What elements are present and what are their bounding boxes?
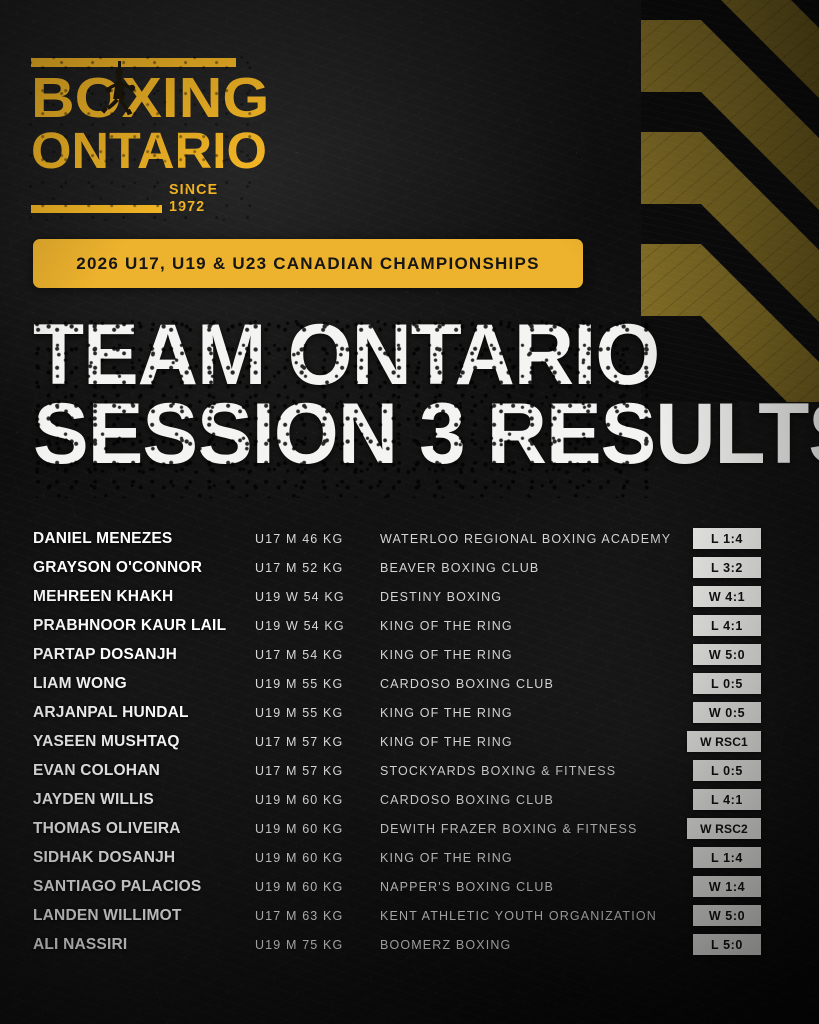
logo-word-boxing: BOXING <box>31 72 273 126</box>
athlete-name: EVAN COLOHAN <box>33 762 255 780</box>
result-badge-label: W 4:1 <box>709 590 745 604</box>
table-row: DANIEL MENEZESU17 M 46 KGWATERLOO REGION… <box>33 524 790 553</box>
athlete-name: DANIEL MENEZES <box>33 530 255 548</box>
result-badge: W 5:0 <box>693 644 761 665</box>
result-badge: L 3:2 <box>693 557 761 578</box>
table-row: MEHREEN KHAKHU19 W 54 KGDESTINY BOXINGW … <box>33 582 790 611</box>
result-badge: L 1:4 <box>693 847 761 868</box>
athlete-category: U19 M 55 KG <box>255 706 380 720</box>
athlete-name: ALI NASSIRI <box>33 936 255 954</box>
result-badge: W RSC1 <box>687 731 761 752</box>
results-poster: BOXING ONTARIO SINCE 1972 <box>0 0 819 1024</box>
athlete-name: SANTIAGO PALACIOS <box>33 878 255 896</box>
athlete-name: THOMAS OLIVEIRA <box>33 820 255 838</box>
table-row: PRABHNOOR KAUR LAILU19 W 54 KGKING OF TH… <box>33 611 790 640</box>
athlete-category: U17 M 57 KG <box>255 735 380 749</box>
table-row: ALI NASSIRIU19 M 75 KGBOOMERZ BOXINGL 5:… <box>33 930 790 959</box>
result-badge-label: W 0:5 <box>709 706 745 720</box>
result-badge-label: L 5:0 <box>711 938 743 952</box>
athlete-name: MEHREEN KHAKH <box>33 588 255 606</box>
result-badge: L 0:5 <box>693 673 761 694</box>
logo-word-ontario: ONTARIO <box>31 127 264 175</box>
championship-banner-label: 2026 U17, U19 & U23 CANADIAN CHAMPIONSHI… <box>76 254 539 274</box>
athlete-name: GRAYSON O'CONNOR <box>33 559 255 577</box>
table-row: ARJANPAL HUNDALU19 M 55 KGKING OF THE RI… <box>33 698 790 727</box>
athlete-category: U17 M 57 KG <box>255 764 380 778</box>
page-title: TEAM ONTARIO SESSION 3 RESULTS <box>33 318 653 463</box>
athlete-category: U19 M 60 KG <box>255 822 380 836</box>
result-badge-label: L 1:4 <box>711 851 743 865</box>
logo-since-text: SINCE 1972 <box>169 181 255 215</box>
result-badge: L 5:0 <box>693 934 761 955</box>
athlete-name: SIDHAK DOSANJH <box>33 849 255 867</box>
athlete-category: U19 M 55 KG <box>255 677 380 691</box>
result-badge-label: W 5:0 <box>709 648 745 662</box>
result-badge-label: W 5:0 <box>709 909 745 923</box>
result-badge: W 4:1 <box>693 586 761 607</box>
table-row: GRAYSON O'CONNORU17 M 52 KGBEAVER BOXING… <box>33 553 790 582</box>
athlete-name: LIAM WONG <box>33 675 255 693</box>
table-row: SANTIAGO PALACIOSU19 M 60 KGNAPPER'S BOX… <box>33 872 790 901</box>
athlete-name: YASEEN MUSHTAQ <box>33 733 255 751</box>
athlete-name: JAYDEN WILLIS <box>33 791 255 809</box>
result-badge: W 5:0 <box>693 905 761 926</box>
table-row: PARTAP DOSANJHU17 M 54 KGKING OF THE RIN… <box>33 640 790 669</box>
result-badge: W 0:5 <box>693 702 761 723</box>
result-badge-label: L 0:5 <box>711 764 743 778</box>
result-badge-label: L 0:5 <box>711 677 743 691</box>
table-row: YASEEN MUSHTAQU17 M 57 KGKING OF THE RIN… <box>33 727 790 756</box>
result-badge-label: L 3:2 <box>711 561 743 575</box>
result-badge-label: L 4:1 <box>711 619 743 633</box>
table-row: LIAM WONGU19 M 55 KGCARDOSO BOXING CLUBL… <box>33 669 790 698</box>
athlete-name: ARJANPAL HUNDAL <box>33 704 255 722</box>
result-badge-label: W RSC2 <box>700 822 748 836</box>
boxing-ontario-logo: BOXING ONTARIO SINCE 1972 <box>31 58 259 215</box>
logo-bottom-rule <box>31 205 162 213</box>
table-row: JAYDEN WILLISU19 M 60 KGCARDOSO BOXING C… <box>33 785 790 814</box>
page-title-line1: TEAM ONTARIO <box>33 318 715 393</box>
table-row: EVAN COLOHANU17 M 57 KGSTOCKYARDS BOXING… <box>33 756 790 785</box>
result-badge-label: L 1:4 <box>711 532 743 546</box>
championship-banner: 2026 U17, U19 & U23 CANADIAN CHAMPIONSHI… <box>33 239 583 288</box>
athlete-category: U17 M 63 KG <box>255 909 380 923</box>
athlete-name: LANDEN WILLIMOT <box>33 907 255 925</box>
athlete-name: PARTAP DOSANJH <box>33 646 255 664</box>
athlete-category: U19 W 54 KG <box>255 619 380 633</box>
result-badge: W RSC2 <box>687 818 761 839</box>
table-row: SIDHAK DOSANJHU19 M 60 KGKING OF THE RIN… <box>33 843 790 872</box>
athlete-category: U19 M 75 KG <box>255 938 380 952</box>
result-badge-label: W RSC1 <box>700 735 748 749</box>
result-badge: W 1:4 <box>693 876 761 897</box>
athlete-name: PRABHNOOR KAUR LAIL <box>33 617 255 635</box>
result-badge-label: W 1:4 <box>709 880 745 894</box>
result-badge: L 4:1 <box>693 615 761 636</box>
result-badge: L 1:4 <box>693 528 761 549</box>
result-badge: L 4:1 <box>693 789 761 810</box>
athlete-category: U19 W 54 KG <box>255 590 380 604</box>
results-table: DANIEL MENEZESU17 M 46 KGWATERLOO REGION… <box>33 524 790 959</box>
table-row: THOMAS OLIVEIRAU19 M 60 KGDEWITH FRAZER … <box>33 814 790 843</box>
logo-footer-row: SINCE 1972 <box>31 181 259 215</box>
athlete-category: U19 M 60 KG <box>255 793 380 807</box>
athlete-category: U17 M 52 KG <box>255 561 380 575</box>
result-badge-label: L 4:1 <box>711 793 743 807</box>
table-row: LANDEN WILLIMOTU17 M 63 KGKENT ATHLETIC … <box>33 901 790 930</box>
athlete-category: U17 M 46 KG <box>255 532 380 546</box>
page-title-line2: SESSION 3 RESULTS <box>33 397 715 472</box>
athlete-category: U19 M 60 KG <box>255 851 380 865</box>
athlete-category: U17 M 54 KG <box>255 648 380 662</box>
athlete-category: U19 M 60 KG <box>255 880 380 894</box>
result-badge: L 0:5 <box>693 760 761 781</box>
